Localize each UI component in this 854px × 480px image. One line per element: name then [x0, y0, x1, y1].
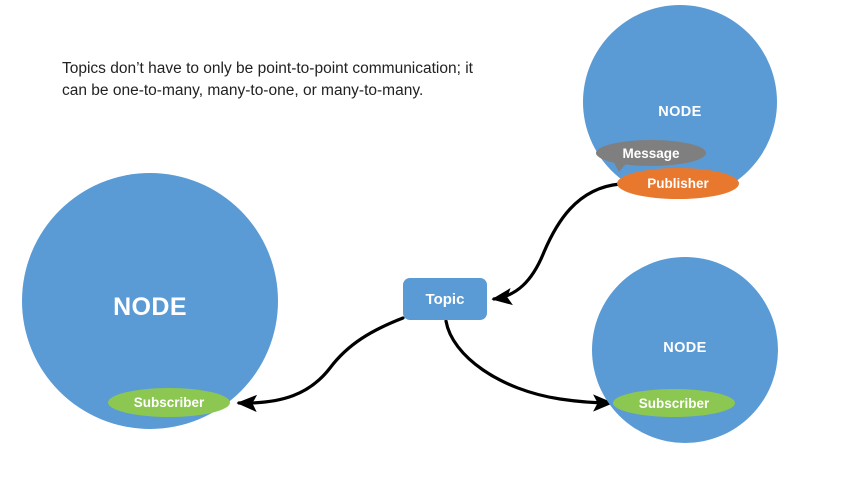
subscriber-bottom-right-label: Subscriber	[639, 396, 710, 411]
publisher-top-right-label: Publisher	[647, 176, 709, 191]
topic-box[interactable]: Topic	[403, 278, 487, 320]
subscriber-left-label: Subscriber	[134, 395, 205, 410]
connector-publisher-to-topic	[494, 184, 620, 299]
connector-topic-to-subscriber-right	[446, 321, 611, 403]
subscriber-left[interactable]: Subscriber	[108, 388, 230, 417]
node-left-label: NODE	[22, 293, 278, 322]
publisher-top-right[interactable]: Publisher	[617, 168, 739, 199]
message-bubble-label: Message	[622, 146, 679, 161]
node-bottom-right-label: NODE	[592, 340, 778, 356]
slide-canvas: Topics don’t have to only be point-to-po…	[0, 0, 854, 480]
subscriber-bottom-right[interactable]: Subscriber	[613, 389, 735, 417]
topic-box-label: Topic	[426, 291, 465, 308]
node-top-right-label: NODE	[583, 104, 777, 120]
message-bubble-tail-icon	[612, 159, 630, 172]
